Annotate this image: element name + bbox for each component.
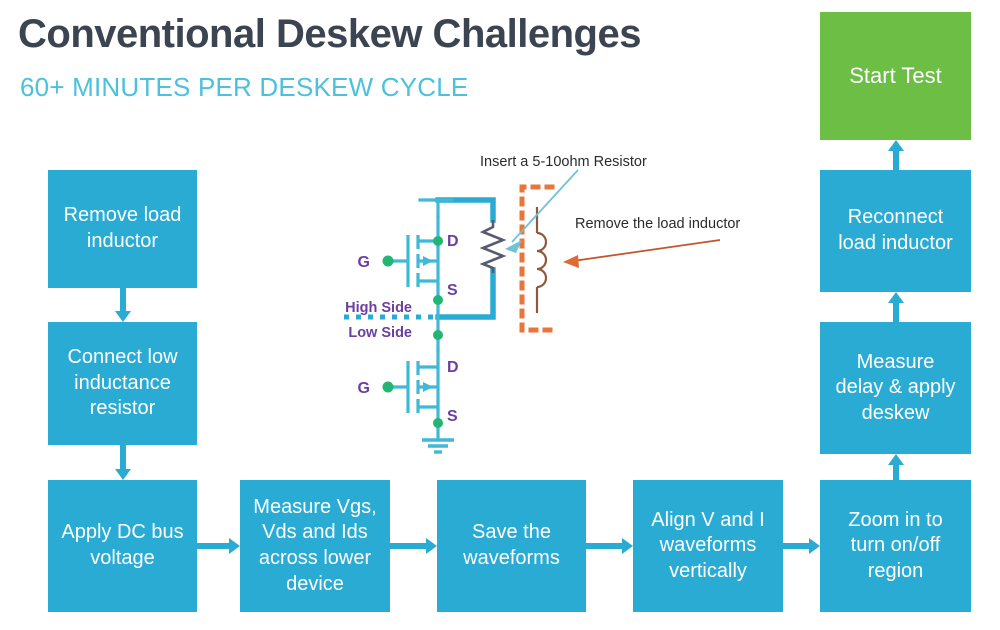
arrow-measure-to-save xyxy=(390,543,437,549)
flow-box-zoom-in-to-turn-on-off-region[interactable]: Zoom in to turn on/off region xyxy=(820,480,971,612)
mosfet-high-side-arrow xyxy=(423,256,433,266)
flow-box-remove-load-inductor[interactable]: Remove load inductor xyxy=(48,170,197,288)
inductor-symbol xyxy=(537,207,546,313)
callout-arrow-resistor xyxy=(505,240,522,253)
ground-icon xyxy=(422,440,454,452)
label-low-source: S xyxy=(447,408,458,425)
mosfet-low-side-arrow xyxy=(423,382,433,392)
flow-box-connect-low-inductance-resistor[interactable]: Connect low inductance resistor xyxy=(48,322,197,445)
flow-box-measure-vgs-vds-ids[interactable]: Measure Vgs, Vds and Ids across lower de… xyxy=(240,480,390,612)
label-high-gate: G xyxy=(358,254,370,271)
arrow-zoom-to-measure-delay xyxy=(893,454,899,480)
arrow-connect-to-apply xyxy=(120,445,126,480)
resistor-symbol xyxy=(483,220,503,273)
arrow-save-to-align xyxy=(586,543,633,549)
flow-box-align-v-and-i-waveforms[interactable]: Align V and I waveforms vertically xyxy=(633,480,783,612)
flow-box-apply-dc-bus-voltage[interactable]: Apply DC bus voltage xyxy=(48,480,197,612)
page-subtitle: 60+ MINUTES PER DESKEW CYCLE xyxy=(20,72,468,103)
arrow-apply-to-measure xyxy=(197,543,240,549)
flow-box-start-test[interactable]: Start Test xyxy=(820,12,971,140)
flow-box-measure-delay-apply-deskew[interactable]: Measure delay & apply deskew xyxy=(820,322,971,454)
label-low-gate: G xyxy=(358,380,370,397)
arrow-remove-to-connect xyxy=(120,288,126,322)
label-low-side: Low Side xyxy=(348,325,412,341)
label-high-drain: D xyxy=(447,233,459,250)
flow-box-reconnect-load-inductor[interactable]: Reconnect load inductor xyxy=(820,170,971,292)
callout-arrow-inductor xyxy=(563,255,579,268)
diagram-canvas: Conventional Deskew Challenges 60+ MINUT… xyxy=(0,0,1000,630)
flow-box-save-the-waveforms[interactable]: Save the waveforms xyxy=(437,480,586,612)
arrow-measure-delay-to-reconnect xyxy=(893,292,899,322)
label-high-source: S xyxy=(447,282,458,299)
annotation-resistor-callout: Insert a 5-10ohm Resistor xyxy=(480,154,647,170)
label-low-drain: D xyxy=(447,359,459,376)
circuit-schematic: D G S D G S High Side Low Side Insert a … xyxy=(330,145,750,460)
label-high-side: High Side xyxy=(345,300,412,316)
arrow-align-to-zoom xyxy=(783,543,820,549)
resistor-branch-wire xyxy=(438,200,493,317)
annotation-inductor-callout: Remove the load inductor xyxy=(575,216,740,232)
page-title: Conventional Deskew Challenges xyxy=(18,12,641,57)
arrow-reconnect-to-start-test xyxy=(893,140,899,170)
callout-line-inductor xyxy=(573,240,720,261)
